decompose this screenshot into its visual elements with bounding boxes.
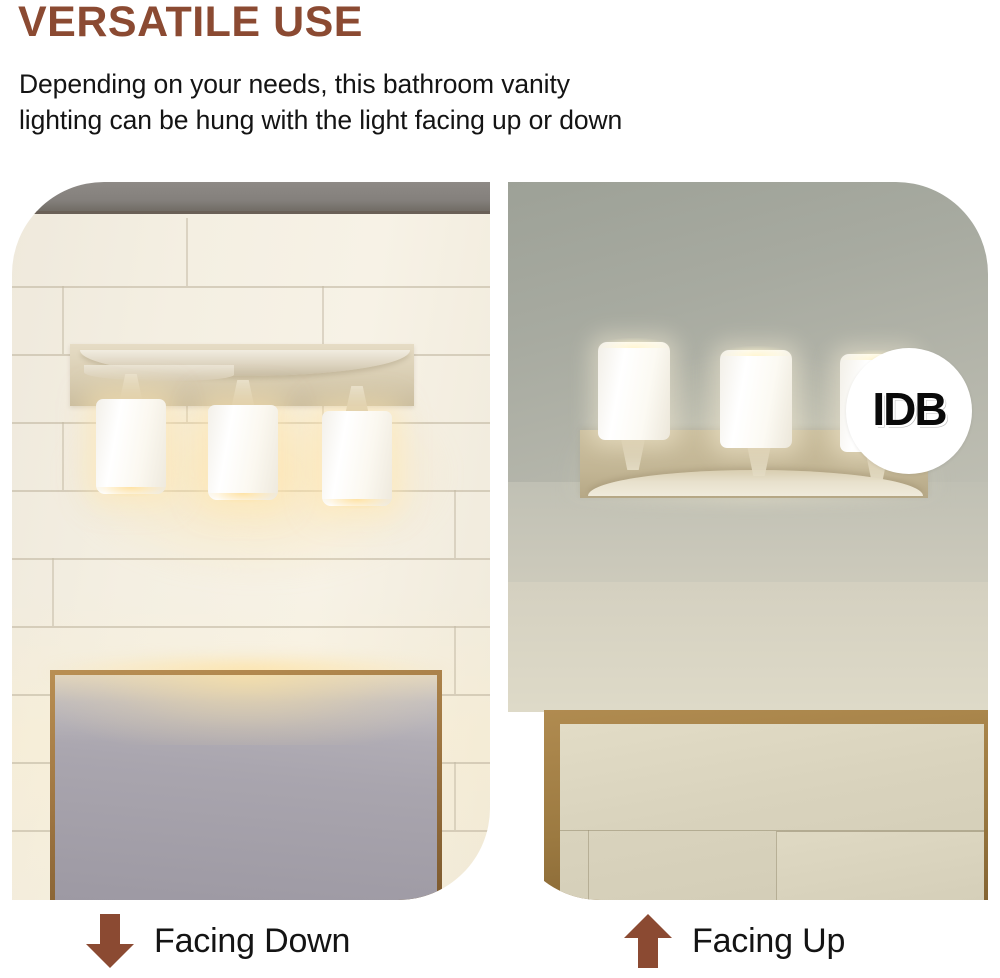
caption-facing-down: Facing Down: [84, 912, 350, 970]
caption-label: Facing Up: [692, 922, 845, 961]
grout-line: [62, 286, 64, 354]
grout-line: [186, 218, 188, 286]
ceiling: [12, 182, 490, 212]
arrow-up-icon: [622, 912, 674, 970]
grout-line: [454, 626, 456, 694]
cabinet-door: [776, 831, 984, 900]
grout-line: [12, 626, 490, 628]
ceiling-edge: [12, 211, 490, 214]
grout-line: [454, 762, 456, 830]
mirror-highlight: [55, 675, 437, 745]
brand-logo-text: IDB: [872, 382, 945, 436]
page-title: VERSATILE USE: [18, 0, 363, 47]
grout-line: [52, 558, 54, 626]
glass-shade: [208, 405, 278, 500]
grout-line: [454, 490, 456, 558]
brand-badge: IDB: [846, 348, 972, 474]
panel-facing-down: [12, 182, 490, 900]
comparison-panels: IDB: [0, 182, 1000, 900]
caption-facing-up: Facing Up: [622, 912, 845, 970]
page-subtitle: Depending on your needs, this bathroom v…: [19, 66, 622, 138]
grout-line: [12, 286, 490, 288]
glass-shade: [598, 342, 670, 440]
arrow-down-icon: [84, 912, 136, 970]
glass-shade: [322, 411, 392, 506]
glass-shade: [720, 350, 792, 448]
panel-facing-up: [508, 182, 988, 900]
glass-shade: [96, 399, 166, 494]
wall-panel: [508, 582, 988, 712]
cabinet-seam: [588, 830, 589, 900]
caption-label: Facing Down: [154, 922, 350, 961]
